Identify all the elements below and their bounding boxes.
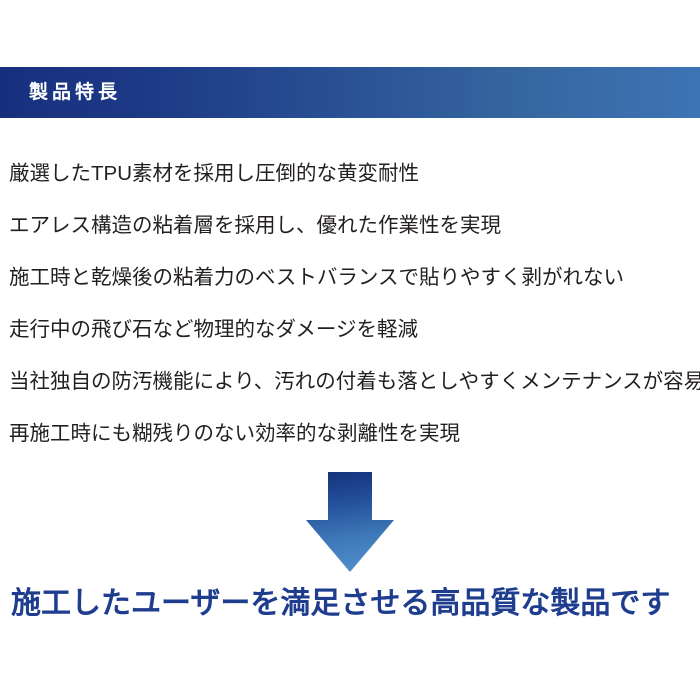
feature-list: 厳選したTPU素材を採用し圧倒的な黄変耐性 エアレス構造の粘着層を採用し、優れた… <box>0 148 700 460</box>
feature-item: 走行中の飛び石など物理的なダメージを軽減 <box>0 304 700 356</box>
arrow-down-icon <box>290 472 410 572</box>
product-features-page: 製品特長 厳選したTPU素材を採用し圧倒的な黄変耐性 エアレス構造の粘着層を採用… <box>0 0 700 700</box>
feature-item: 施工時と乾燥後の粘着力のベストバランスで貼りやすく剥がれない <box>0 252 700 304</box>
conclusion-headline: 施工したユーザーを満足させる高品質な製品です <box>11 589 670 619</box>
conclusion-banner: 施工したユーザーを満足させる高品質な製品です <box>0 580 700 628</box>
section-header-title: 製品特長 <box>0 83 121 102</box>
arrow-container <box>0 472 700 577</box>
feature-item: エアレス構造の粘着層を採用し、優れた作業性を実現 <box>0 200 700 252</box>
feature-item: 再施工時にも糊残りのない効率的な剥離性を実現 <box>0 408 700 460</box>
feature-item: 当社独自の防汚機能により、汚れの付着も落としやすくメンテナンスが容易 <box>0 356 700 408</box>
feature-item: 厳選したTPU素材を採用し圧倒的な黄変耐性 <box>0 148 700 200</box>
section-header-band: 製品特長 <box>0 67 700 118</box>
